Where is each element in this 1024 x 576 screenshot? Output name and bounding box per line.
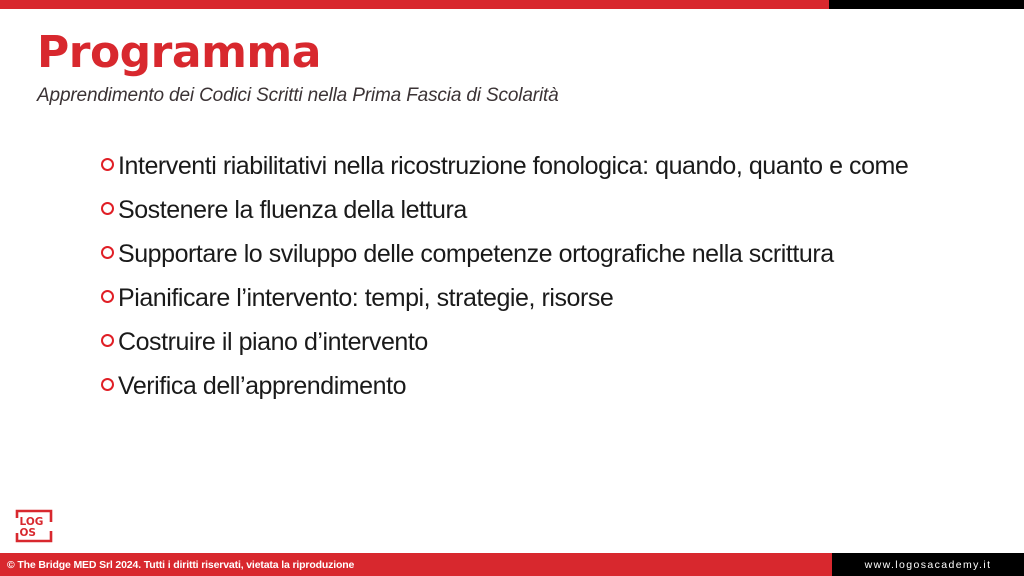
page-title: Programma [37,30,559,76]
top-accent-bar [0,0,1024,9]
circle-bullet-icon [101,378,114,391]
footer-copyright-text: © The Bridge MED Srl 2024. Tutti i dirit… [0,559,354,571]
list-item-label: Sostenere la fluenza della lettura [117,192,971,229]
page-subtitle: Apprendimento dei Codici Scritti nella P… [37,85,559,108]
footer-website-link[interactable]: www.logosacademy.it [865,559,992,571]
circle-bullet-icon [101,290,114,303]
logo-line2: OS [20,527,37,539]
list-item-label: Costruire il piano d’intervento [117,324,971,361]
list-item: Costruire il piano d’intervento [101,324,971,361]
circle-bullet-icon [101,334,114,347]
list-item: Supportare lo sviluppo delle competenze … [101,236,971,273]
list-item-label: Supportare lo sviluppo delle competenze … [117,236,971,273]
footer-left-segment: © The Bridge MED Srl 2024. Tutti i dirit… [0,553,832,576]
footer-right-segment: www.logosacademy.it [832,553,1024,576]
circle-bullet-icon [101,202,114,215]
program-bullet-list: Interventi riabilitativi nella ricostruz… [101,148,971,412]
circle-bullet-icon [101,158,114,171]
circle-bullet-icon [101,246,114,259]
slide-header: Programma Apprendimento dei Codici Scrit… [37,30,559,108]
list-item: Pianificare l’intervento: tempi, strateg… [101,280,971,317]
footer-bar: © The Bridge MED Srl 2024. Tutti i dirit… [0,553,1024,576]
list-item-label: Verifica dell’apprendimento [117,368,971,405]
logos-logo: LOG OS [15,509,53,543]
list-item: Verifica dell’apprendimento [101,368,971,405]
top-accent-bar-black-segment [829,0,1024,9]
top-accent-bar-red-segment [0,0,829,9]
list-item-label: Interventi riabilitativi nella ricostruz… [117,148,971,185]
list-item-label: Pianificare l’intervento: tempi, strateg… [117,280,971,317]
list-item: Sostenere la fluenza della lettura [101,192,971,229]
logos-logo-icon: LOG OS [15,509,53,543]
list-item: Interventi riabilitativi nella ricostruz… [101,148,971,185]
